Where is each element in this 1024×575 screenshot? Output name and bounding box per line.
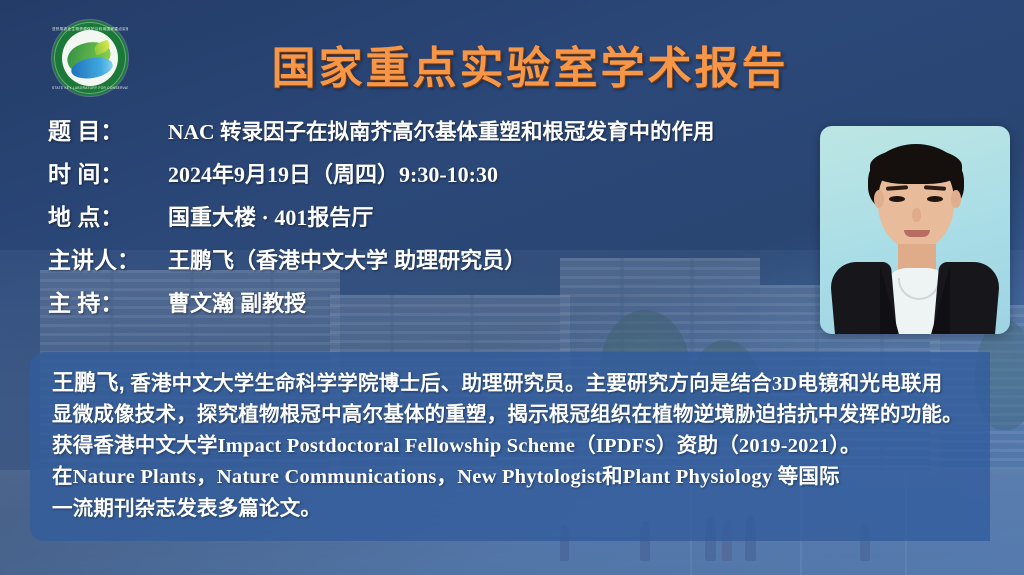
detail-row-location: 地 点： 国重大楼 · 401报告厅 xyxy=(48,198,828,241)
page-title: 国家重点实验室学术报告 xyxy=(0,32,1024,96)
bio-line: 王鹏飞, 香港中文大学生命科学学院博士后、助理研究员。主要研究方向是结合3D电镜… xyxy=(52,366,968,400)
speaker-portrait xyxy=(820,126,1010,334)
bio-line-text: 香港中文大学生命科学学院博士后、助理研究员。主要研究方向是结合3D电镜和光电联用 xyxy=(125,373,942,395)
bio-line: 在Nature Plants，Nature Communications，New… xyxy=(52,462,968,493)
detail-value-host: 曹文瀚 副教授 xyxy=(168,286,306,318)
detail-row-topic: 题 目： NAC 转录因子在拟南芥高尔基体重塑和根冠发育中的作用 xyxy=(48,112,828,155)
detail-label-location: 地 点： xyxy=(48,198,168,232)
speaker-biography: 王鹏飞, 香港中文大学生命科学学院博士后、助理研究员。主要研究方向是结合3D电镜… xyxy=(30,352,990,541)
detail-label-time: 时 间： xyxy=(48,155,168,189)
detail-value-topic: NAC 转录因子在拟南芥高尔基体重塑和根冠发育中的作用 xyxy=(168,115,714,146)
detail-row-host: 主 持： 曹文瀚 副教授 xyxy=(48,284,828,327)
bio-line: 显微成像技术，探究植物根冠中高尔基体的重塑，揭示根冠组织在植物逆境胁迫拮抗中发挥… xyxy=(52,400,968,431)
detail-row-time: 时 间： 2024年9月19日（周四）9:30-10:30 xyxy=(48,155,828,198)
bio-line: 获得香港中文大学Impact Postdoctoral Fellowship S… xyxy=(52,431,968,462)
seminar-details: 题 目： NAC 转录因子在拟南芥高尔基体重塑和根冠发育中的作用 时 间： 20… xyxy=(48,112,828,327)
detail-row-speaker: 主讲人： 王鹏飞（香港中文大学 助理研究员） xyxy=(48,241,828,284)
poster-header: 亚热带农业生物资源保护与利用国家重点实验室 STATE KEY LABORATO… xyxy=(0,14,1024,100)
detail-label-topic: 题 目： xyxy=(48,112,168,146)
seminar-poster: 亚热带农业生物资源保护与利用国家重点实验室 STATE KEY LABORATO… xyxy=(0,0,1024,575)
detail-value-location: 国重大楼 · 401报告厅 xyxy=(168,200,373,232)
bio-speaker-name: 王鹏飞, xyxy=(52,370,125,395)
bio-line: 一流期刊杂志发表多篇论文。 xyxy=(52,494,968,525)
detail-value-time: 2024年9月19日（周四）9:30-10:30 xyxy=(168,157,498,189)
detail-label-host: 主 持： xyxy=(48,284,168,318)
detail-value-speaker: 王鹏飞（香港中文大学 助理研究员） xyxy=(168,243,526,275)
detail-label-speaker: 主讲人： xyxy=(48,241,168,275)
